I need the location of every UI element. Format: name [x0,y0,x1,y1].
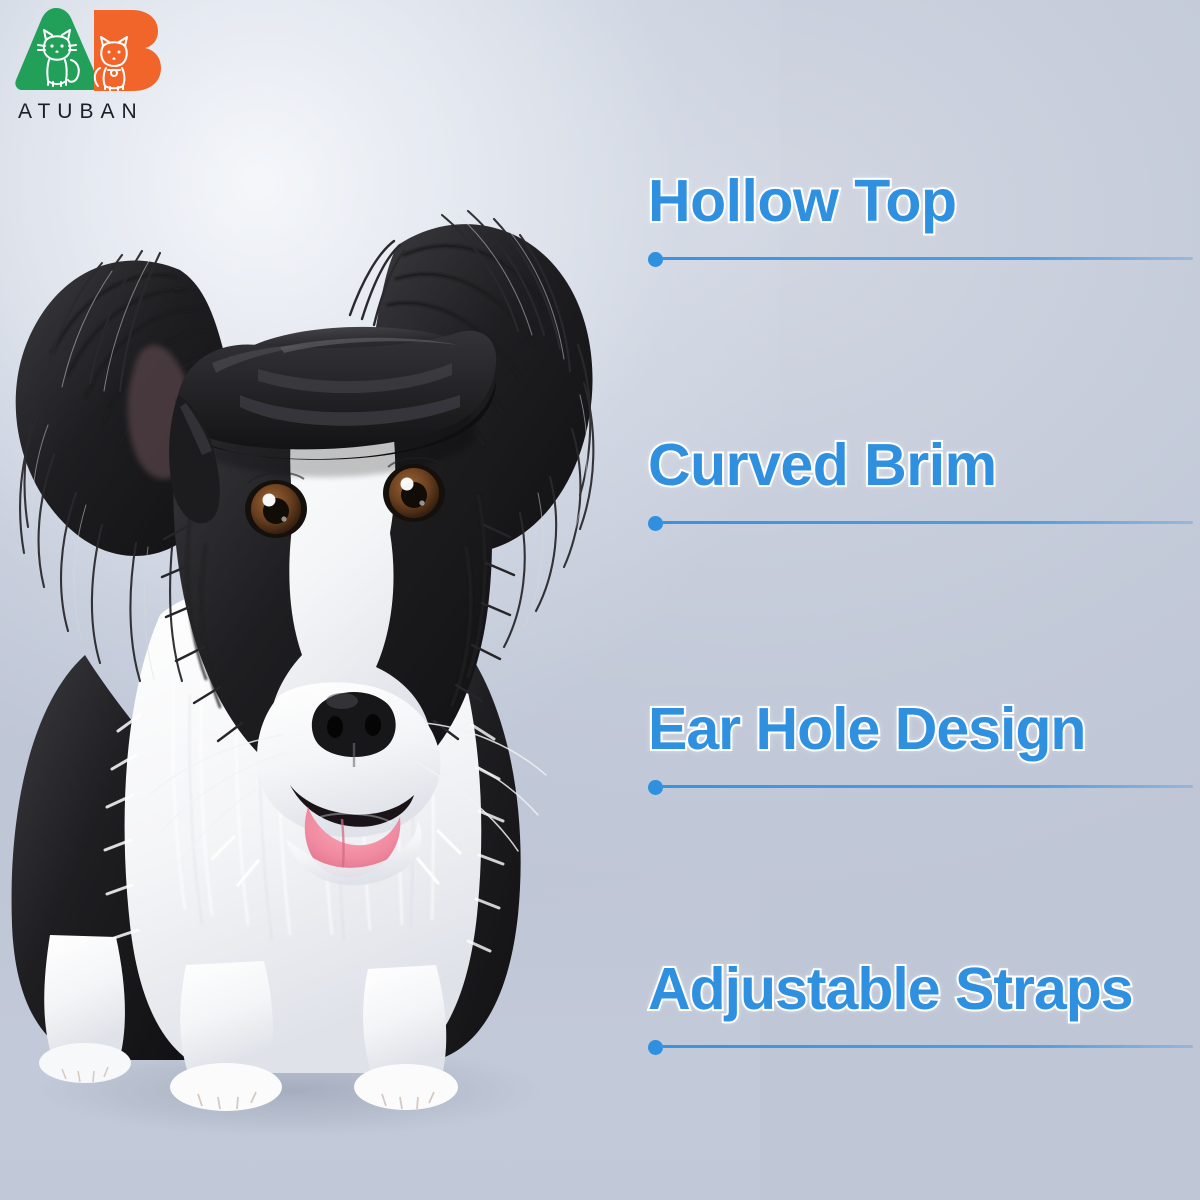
feature-item-curved-brim: Curved Brim [648,436,1193,531]
feature-rule [648,1039,1193,1055]
feature-underline [661,257,1193,260]
feature-item-adjustable-straps: Adjustable Straps [648,960,1193,1055]
product-photo-dog-wearing-visor [0,95,650,1200]
feature-label: Hollow Top [648,172,1193,231]
logo-mark-icon [8,2,168,98]
feature-rule [648,779,1193,795]
feature-label: Adjustable Straps [648,960,1193,1019]
feature-underline [661,521,1193,524]
feature-label: Curved Brim [648,436,1193,495]
feature-underline [661,1045,1193,1048]
product-feature-banner: ATUBAN [0,0,1200,1200]
feature-rule [648,515,1193,531]
feature-item-hollow-top: Hollow Top [648,172,1193,267]
feature-item-ear-hole-design: Ear Hole Design [648,700,1193,795]
feature-underline [661,785,1193,788]
feature-rule [648,251,1193,267]
feature-label: Ear Hole Design [648,700,1193,759]
